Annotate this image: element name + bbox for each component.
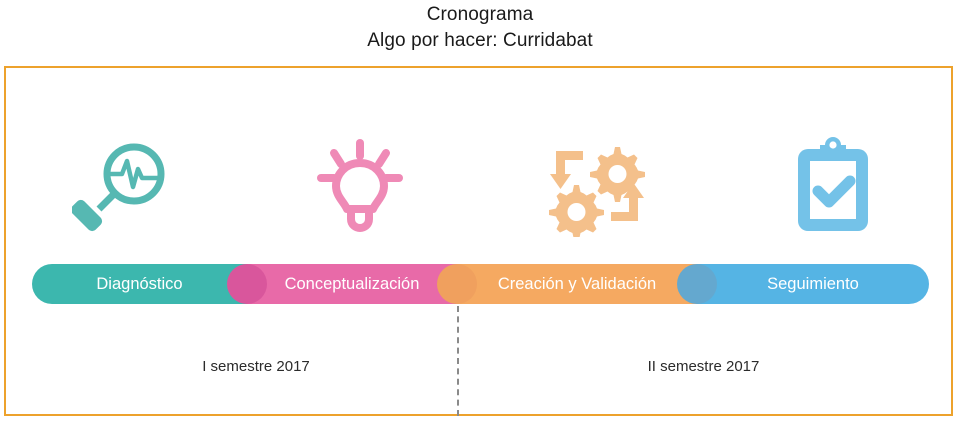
icon-cell-diagnostico bbox=[6, 120, 242, 250]
icon-row bbox=[6, 120, 951, 250]
timeline-segment-label: Seguimiento bbox=[767, 275, 859, 293]
lightbulb-icon bbox=[308, 133, 412, 237]
icon-cell-conceptualizacion bbox=[242, 120, 478, 250]
semester-label-first: I semestre 2017 bbox=[66, 358, 446, 376]
timeline-joint-1 bbox=[227, 264, 267, 304]
semester-label-second: II semestre 2017 bbox=[471, 358, 936, 376]
timeline-segment-label: Diagnóstico bbox=[96, 275, 182, 293]
clipboard-check-icon bbox=[783, 133, 883, 237]
timeline-segment-diagnostico[interactable]: Diagnóstico bbox=[32, 264, 247, 304]
timeline-joint-3 bbox=[677, 264, 717, 304]
semester-divider bbox=[457, 306, 459, 416]
icon-cell-creacion-validacion bbox=[479, 120, 715, 250]
magnifier-pulse-icon bbox=[72, 133, 176, 237]
gears-cycle-icon bbox=[543, 133, 651, 237]
timeline-bar: Diagnóstico Conceptualización Creación y… bbox=[32, 264, 929, 304]
title-line-1: Cronograma bbox=[0, 2, 960, 28]
timeline-segment-creacion-validacion[interactable]: Creación y Validación bbox=[457, 264, 697, 304]
timeline-segment-conceptualizacion[interactable]: Conceptualización bbox=[247, 264, 457, 304]
timeline-segment-label: Creación y Validación bbox=[498, 275, 656, 293]
timeline-segment-seguimiento[interactable]: Seguimiento bbox=[697, 264, 929, 304]
icon-cell-seguimiento bbox=[715, 120, 951, 250]
timeline-joint-2 bbox=[437, 264, 477, 304]
timeline-segment-label: Conceptualización bbox=[285, 275, 420, 293]
page-title: Cronograma Algo por hacer: Curridabat bbox=[0, 2, 960, 54]
title-line-2: Algo por hacer: Curridabat bbox=[0, 28, 960, 54]
timeline-diagram-frame: Diagnóstico Conceptualización Creación y… bbox=[4, 66, 953, 416]
